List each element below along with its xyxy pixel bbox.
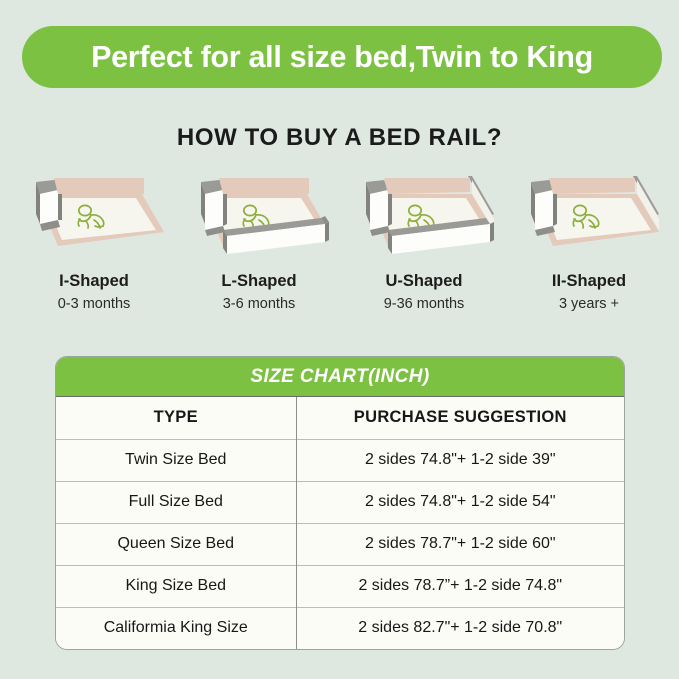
- cell-bed-type: Queen Size Bed: [56, 523, 296, 565]
- size-chart-title: SIZE CHART(INCH): [56, 357, 624, 397]
- bed-type-label: II-Shaped: [552, 272, 626, 291]
- bed-type-label: I-Shaped: [59, 272, 129, 291]
- cell-purchase-suggestion: 2 sides 78.7"+ 1-2 side 60": [296, 523, 624, 565]
- page-title: HOW TO BUY A BED RAIL?: [0, 124, 679, 152]
- headline-banner-text: Perfect for all size bed,Twin to King: [91, 42, 593, 73]
- bed-type-age: 9-36 months: [384, 296, 465, 313]
- cell-purchase-suggestion: 2 sides 74.8"+ 1-2 side 39": [296, 439, 624, 481]
- size-chart-table: TYPE PURCHASE SUGGESTION Twin Size Bed 2…: [56, 397, 624, 649]
- table-row: Queen Size Bed 2 sides 78.7"+ 1-2 side 6…: [56, 523, 624, 565]
- table-header-row: TYPE PURCHASE SUGGESTION: [56, 397, 624, 439]
- bed-type-item-i-shaped: I-Shaped 0-3 months: [14, 168, 174, 323]
- cell-purchase-suggestion: 2 sides 82.7"+ 1-2 side 70.8": [296, 607, 624, 649]
- cell-purchase-suggestion: 2 sides 74.8"+ 1-2 side 54": [296, 481, 624, 523]
- bed-type-age: 3-6 months: [223, 296, 296, 313]
- cell-bed-type: Twin Size Bed: [56, 439, 296, 481]
- headline-banner: Perfect for all size bed,Twin to King: [22, 26, 662, 88]
- bed-rail-l-shaped-icon: [179, 168, 339, 258]
- table-row: Full Size Bed 2 sides 74.8"+ 1-2 side 54…: [56, 481, 624, 523]
- bed-type-label: U-Shaped: [385, 272, 462, 291]
- size-chart: SIZE CHART(INCH) TYPE PURCHASE SUGGESTIO…: [55, 356, 625, 650]
- column-header-type: TYPE: [56, 397, 296, 439]
- bed-type-item-ii-shaped: II-Shaped 3 years +: [509, 168, 669, 323]
- cell-purchase-suggestion: 2 sides 78.7”+ 1-2 side 74.8": [296, 565, 624, 607]
- bed-type-item-u-shaped: U-Shaped 9-36 months: [344, 168, 504, 323]
- bed-rail-ii-shaped-icon: [509, 168, 669, 258]
- cell-bed-type: King Size Bed: [56, 565, 296, 607]
- bed-rail-i-shaped-icon: [14, 168, 174, 258]
- bed-type-age: 0-3 months: [58, 296, 131, 313]
- column-header-purchase-suggestion: PURCHASE SUGGESTION: [296, 397, 624, 439]
- cell-bed-type: Full Size Bed: [56, 481, 296, 523]
- bed-type-item-l-shaped: L-Shaped 3-6 months: [179, 168, 339, 323]
- bed-type-age: 3 years +: [559, 296, 619, 313]
- cell-bed-type: Califormia King Size: [56, 607, 296, 649]
- table-row: King Size Bed 2 sides 78.7”+ 1-2 side 74…: [56, 565, 624, 607]
- bed-type-list: I-Shaped 0-3 months: [14, 168, 669, 323]
- bed-rail-u-shaped-icon: [344, 168, 504, 258]
- table-row: Twin Size Bed 2 sides 74.8"+ 1-2 side 39…: [56, 439, 624, 481]
- bed-type-label: L-Shaped: [221, 272, 296, 291]
- table-row: Califormia King Size 2 sides 82.7"+ 1-2 …: [56, 607, 624, 649]
